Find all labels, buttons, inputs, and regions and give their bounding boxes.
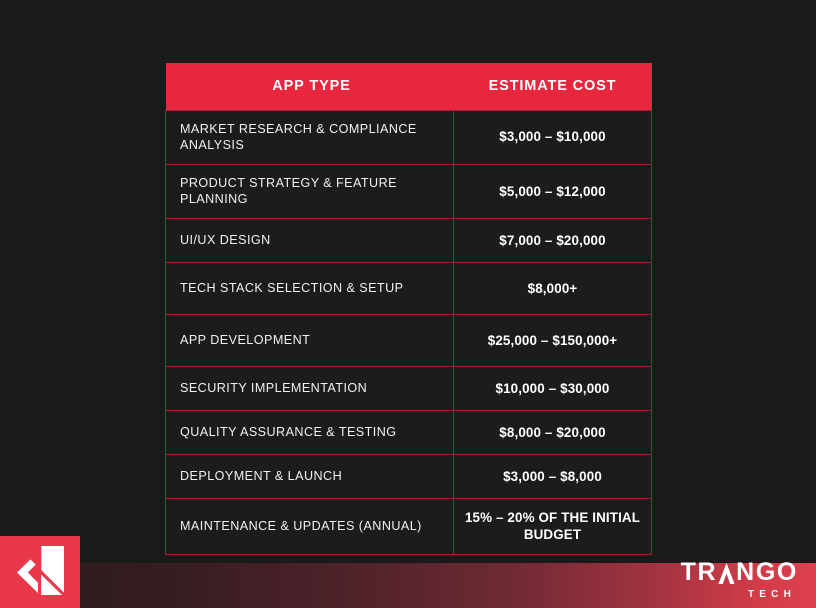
trango-arrow-mark-icon xyxy=(0,536,80,608)
table-row: DEPLOYMENT & LAUNCH $3,000 – $8,000 xyxy=(166,454,652,498)
app-cost-table: APP TYPE ESTIMATE COST MARKET RESEARCH &… xyxy=(165,63,652,555)
cell-estimate-cost: 15% – 20% OF THE INITIAL BUDGET xyxy=(454,498,652,554)
brand-name-part2: NGO xyxy=(736,560,798,585)
table-row: SECURITY IMPLEMENTATION $10,000 – $30,00… xyxy=(166,366,652,410)
cell-estimate-cost: $3,000 – $8,000 xyxy=(454,454,652,498)
table-row: MARKET RESEARCH & COMPLIANCE ANALYSIS $3… xyxy=(166,110,652,164)
table-row: APP DEVELOPMENT $25,000 – $150,000+ xyxy=(166,314,652,366)
cell-estimate-cost: $8,000 – $20,000 xyxy=(454,410,652,454)
cell-app-type: MAINTENANCE & UPDATES (ANNUAL) xyxy=(166,498,454,554)
poster-canvas: APP TYPE ESTIMATE COST MARKET RESEARCH &… xyxy=(0,0,816,608)
brand-name-row: TR NGO xyxy=(681,560,798,585)
cell-estimate-cost: $7,000 – $20,000 xyxy=(454,218,652,262)
table-body: MARKET RESEARCH & COMPLIANCE ANALYSIS $3… xyxy=(166,110,652,554)
cell-app-type: UI/UX DESIGN xyxy=(166,218,454,262)
cell-app-type: SECURITY IMPLEMENTATION xyxy=(166,366,454,410)
cell-estimate-cost: $5,000 – $12,000 xyxy=(454,164,652,218)
table-row: MAINTENANCE & UPDATES (ANNUAL) 15% – 20%… xyxy=(166,498,652,554)
cell-estimate-cost: $8,000+ xyxy=(454,262,652,314)
cell-app-type: APP DEVELOPMENT xyxy=(166,314,454,366)
column-header-app-type: APP TYPE xyxy=(166,63,454,110)
brand-letter-a-icon xyxy=(717,560,736,585)
cell-app-type: TECH STACK SELECTION & SETUP xyxy=(166,262,454,314)
column-header-estimate-cost: ESTIMATE COST xyxy=(454,63,652,110)
brand-wordmark: TR NGO TECH xyxy=(681,560,798,600)
cell-estimate-cost: $25,000 – $150,000+ xyxy=(454,314,652,366)
cell-app-type: DEPLOYMENT & LAUNCH xyxy=(166,454,454,498)
table-header: APP TYPE ESTIMATE COST xyxy=(166,63,652,110)
cell-app-type: PRODUCT STRATEGY & FEATURE PLANNING xyxy=(166,164,454,218)
cell-estimate-cost: $3,000 – $10,000 xyxy=(454,110,652,164)
cell-app-type: QUALITY ASSURANCE & TESTING xyxy=(166,410,454,454)
cell-app-type: MARKET RESEARCH & COMPLIANCE ANALYSIS xyxy=(166,110,454,164)
trango-logo-mark xyxy=(0,536,80,608)
table-row: PRODUCT STRATEGY & FEATURE PLANNING $5,0… xyxy=(166,164,652,218)
table-row: TECH STACK SELECTION & SETUP $8,000+ xyxy=(166,262,652,314)
table-header-row: APP TYPE ESTIMATE COST xyxy=(166,63,652,110)
cost-table-container: APP TYPE ESTIMATE COST MARKET RESEARCH &… xyxy=(165,63,651,555)
brand-name-part1: TR xyxy=(681,560,718,585)
table-row: QUALITY ASSURANCE & TESTING $8,000 – $20… xyxy=(166,410,652,454)
cell-estimate-cost: $10,000 – $30,000 xyxy=(454,366,652,410)
brand-tagline: TECH xyxy=(681,590,796,600)
table-row: UI/UX DESIGN $7,000 – $20,000 xyxy=(166,218,652,262)
